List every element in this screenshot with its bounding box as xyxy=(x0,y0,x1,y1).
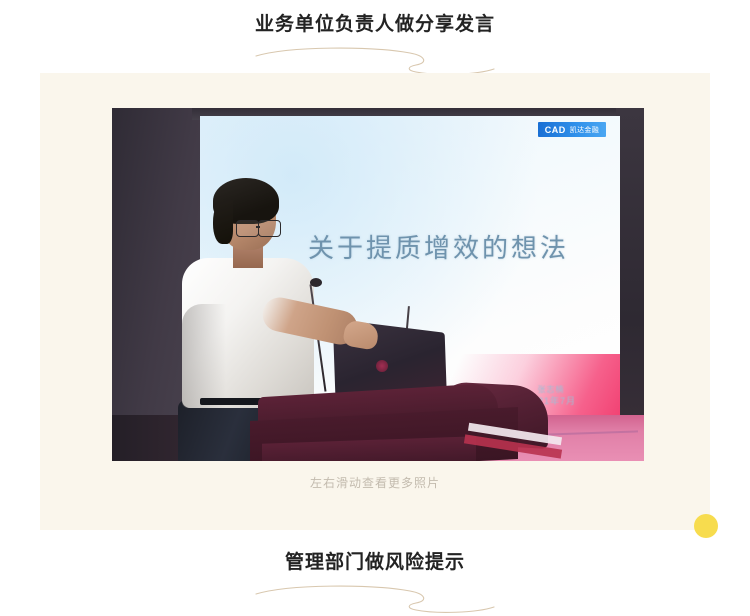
page-title-secondary: 管理部门做风险提示 xyxy=(0,550,750,576)
section-header-top: 业务单位负责人做分享发言 xyxy=(0,12,750,78)
speaker-hair-side xyxy=(213,200,233,244)
slide-logo-text: 凯达金融 xyxy=(570,125,599,135)
gallery-caption: 左右滑动查看更多照片 xyxy=(0,474,750,491)
speaker-glasses-right xyxy=(258,220,281,237)
speaker-glasses-left xyxy=(236,220,259,237)
gallery-photo[interactable]: CAD 凯达金融 关于提质增效的想法 张志楠 2021年7月 xyxy=(112,108,644,461)
slide-title: 关于提质增效的想法 xyxy=(308,228,569,265)
pagination-dot[interactable] xyxy=(694,514,718,538)
speaker-shirt-shadow xyxy=(182,304,226,408)
laptop-logo-icon xyxy=(376,360,388,372)
page-title: 业务单位负责人做分享发言 xyxy=(0,12,750,38)
speaker-glasses-bridge xyxy=(256,226,260,228)
slide-logo-mark: CAD xyxy=(545,125,566,135)
room-wall-right xyxy=(616,108,644,461)
section-header-bottom: 管理部门做风险提示 xyxy=(0,550,750,616)
microphone-head xyxy=(310,278,322,287)
photo-scene: CAD 凯达金融 关于提质增效的想法 张志楠 2021年7月 xyxy=(112,108,644,461)
swash-divider-icon-secondary xyxy=(250,582,500,616)
slide-logo-badge: CAD 凯达金融 xyxy=(538,122,606,137)
